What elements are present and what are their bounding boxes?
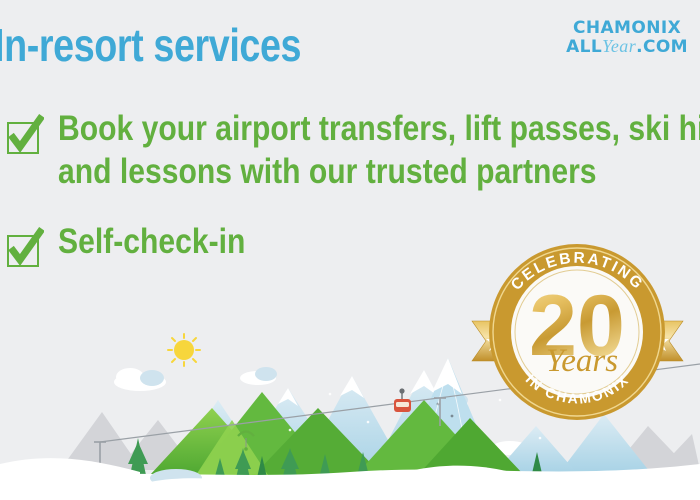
badge-script-word: Years bbox=[546, 343, 618, 379]
list-item-line-2: and lessons with our trusted partners bbox=[58, 151, 700, 194]
chamonix-all-year-logo[interactable]: CHAMONIX ALLYear.COM bbox=[566, 20, 688, 57]
checkbox-check-icon bbox=[4, 227, 44, 269]
logo-line-2: ALLYear.COM bbox=[566, 37, 688, 56]
page-title: In-resort services bbox=[0, 18, 301, 72]
list-item-text: Book your airport transfers, lift passes… bbox=[58, 108, 700, 193]
sun-icon bbox=[168, 334, 200, 366]
logo-line-1: CHAMONIX bbox=[566, 20, 688, 37]
cloud-icon bbox=[114, 368, 166, 391]
list-item-line-1: Book your airport transfers, lift passes… bbox=[58, 108, 700, 151]
promo-banner: CHAMONIX ALLYear.COM In-resort services … bbox=[0, 0, 700, 500]
list-item-text: Self-check-in bbox=[58, 221, 245, 264]
list-item: Book your airport transfers, lift passes… bbox=[4, 108, 694, 193]
list-item-line-1: Self-check-in bbox=[58, 221, 245, 264]
checkbox-check-icon bbox=[4, 114, 44, 156]
logo-year-script: Year bbox=[602, 36, 636, 56]
logo-dotcom-text: .COM bbox=[636, 37, 688, 57]
anniversary-badge: CELEBRATING IN CHAMONIX 20 Years bbox=[470, 225, 685, 430]
logo-all-text: ALL bbox=[566, 37, 602, 57]
